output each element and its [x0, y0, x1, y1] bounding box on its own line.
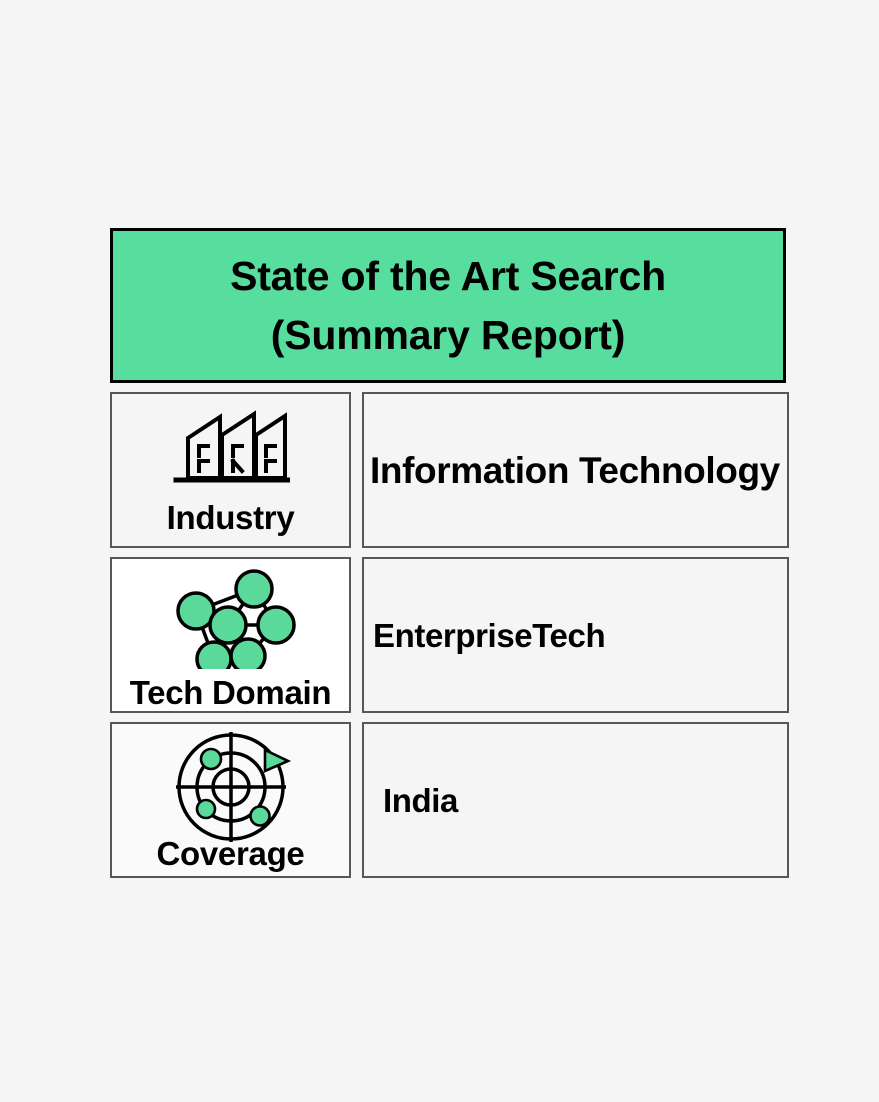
value-cell-tech-domain: EnterpriseTech	[362, 557, 789, 713]
summary-report-card: State of the Art Search (Summary Report)	[110, 228, 789, 878]
table-row: Industry Information Technology	[110, 392, 789, 548]
network-graph-icon	[112, 563, 349, 669]
value-cell-coverage: India	[362, 722, 789, 878]
radar-coverage-icon	[112, 730, 349, 844]
report-title: State of the Art Search (Summary Report)	[230, 247, 666, 363]
value-cell-industry: Information Technology	[362, 392, 789, 548]
factory-buildings-icon	[112, 402, 349, 492]
report-title-line1: State of the Art Search	[230, 253, 666, 299]
value-tech-domain: EnterpriseTech	[364, 619, 605, 652]
label-cell-industry: Industry	[110, 392, 351, 548]
value-industry: Information Technology	[364, 452, 780, 489]
table-row: Coverage India	[110, 722, 789, 878]
label-industry: Industry	[112, 501, 349, 534]
value-coverage: India	[364, 784, 458, 817]
table-row: Tech Domain EnterpriseTech	[110, 557, 789, 713]
label-coverage: Coverage	[112, 837, 349, 870]
label-cell-tech-domain: Tech Domain	[110, 557, 351, 713]
label-cell-coverage: Coverage	[110, 722, 351, 878]
report-title-line2: (Summary Report)	[230, 306, 666, 364]
label-tech-domain: Tech Domain	[112, 676, 349, 709]
report-header: State of the Art Search (Summary Report)	[110, 228, 786, 383]
